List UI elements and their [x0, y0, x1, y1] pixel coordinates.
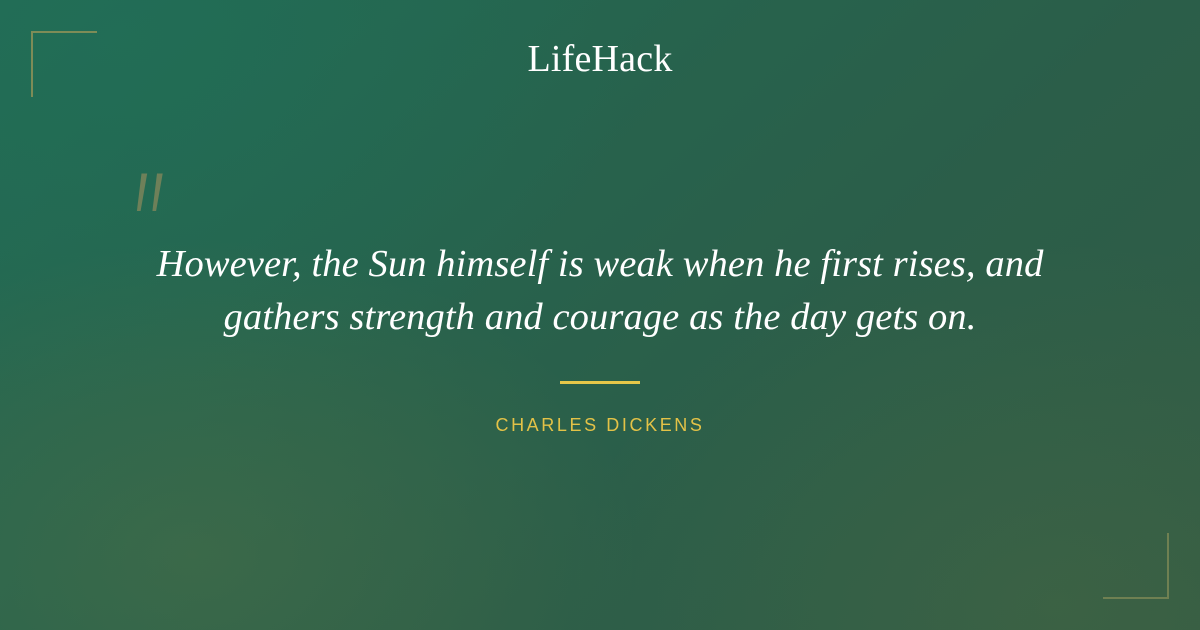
- corner-bracket-bottom-right-icon: [1103, 533, 1169, 599]
- quote-author: CHARLES DICKENS: [0, 413, 1200, 437]
- quote-line-2: gathers strength and courage as the day …: [100, 291, 1100, 344]
- quote-card: LifeHack However, the Sun himself is wea…: [0, 0, 1200, 630]
- quote-mark-icon: [130, 172, 174, 214]
- divider-rule: [560, 381, 640, 384]
- quote-line-1: However, the Sun himself is weak when he…: [100, 238, 1100, 291]
- brand-logo: LifeHack: [0, 37, 1200, 81]
- quote-text: However, the Sun himself is weak when he…: [100, 238, 1100, 344]
